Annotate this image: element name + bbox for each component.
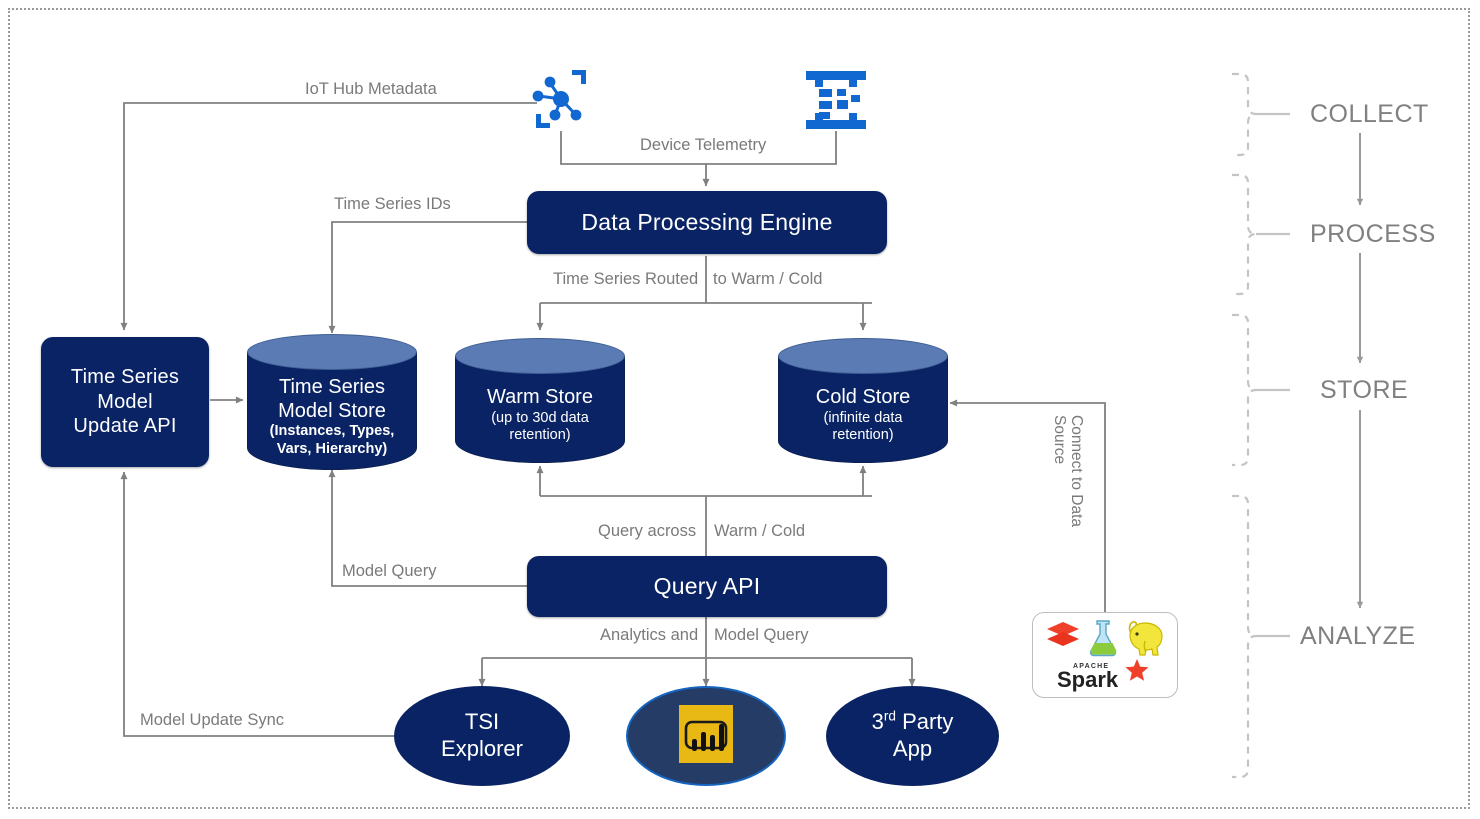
query-api-node[interactable]: Query API bbox=[527, 556, 887, 617]
label-connect-to-data-source-line2: Source bbox=[1050, 415, 1068, 464]
power-bi-icon bbox=[679, 705, 733, 768]
flask-icon bbox=[1091, 621, 1117, 656]
databricks-icon bbox=[1047, 622, 1079, 646]
warm-store-sub1: (up to 30d data bbox=[491, 410, 589, 427]
label-model-query: Model Query bbox=[342, 562, 436, 581]
cold-store-sub2: retention) bbox=[832, 427, 893, 444]
label-model-query-2: Model Query bbox=[714, 626, 808, 645]
warm-store-line1: Warm Store bbox=[487, 386, 593, 410]
model-update-api-line1: Time Series bbox=[71, 365, 179, 389]
third-party-app-line1: 3rd Party bbox=[872, 709, 954, 736]
tsi-explorer-node[interactable]: TSI Explorer bbox=[394, 686, 570, 786]
third-party-app-line2: App bbox=[872, 736, 954, 763]
warm-store-node[interactable]: Warm Store (up to 30d data retention) bbox=[455, 338, 625, 463]
apache-spark-logo: APACHE Spark bbox=[1057, 659, 1149, 692]
label-device-telemetry: Device Telemetry bbox=[640, 136, 766, 155]
power-bi-node[interactable] bbox=[626, 686, 786, 786]
model-store-sub2: Vars, Hierarchy) bbox=[277, 441, 387, 458]
diagram-canvas: Data Processing Engine Time Series Model… bbox=[0, 0, 1480, 819]
label-analytics-and: Analytics and bbox=[600, 626, 698, 645]
label-time-series-ids: Time Series IDs bbox=[334, 195, 451, 214]
label-warm-cold: Warm / Cold bbox=[714, 522, 805, 541]
model-update-api-line3: Update API bbox=[73, 414, 176, 438]
svg-text:Spark: Spark bbox=[1057, 667, 1119, 692]
model-store-text: Time Series Model Store (Instances, Type… bbox=[247, 364, 417, 470]
cold-store-sub1: (infinite data bbox=[824, 410, 903, 427]
iot-hub-icon bbox=[528, 68, 594, 132]
label-model-update-sync: Model Update Sync bbox=[140, 711, 284, 730]
model-store-sub1: (Instances, Types, bbox=[270, 423, 395, 440]
warm-store-sub2: retention) bbox=[509, 427, 570, 444]
cold-store-line1: Cold Store bbox=[816, 386, 911, 410]
phase-label-store: STORE bbox=[1320, 376, 1408, 405]
model-update-api-line2: Model bbox=[97, 390, 152, 414]
hadoop-elephant-icon bbox=[1130, 622, 1162, 655]
label-connect-to-data-source-line1: Connect to Data bbox=[1067, 415, 1085, 527]
cold-store-text: Cold Store (infinite data retention) bbox=[778, 368, 948, 463]
phase-label-analyze: ANALYZE bbox=[1300, 622, 1416, 651]
device-simulator-icon bbox=[803, 68, 869, 132]
phase-label-collect: COLLECT bbox=[1310, 100, 1429, 129]
model-store-node[interactable]: Time Series Model Store (Instances, Type… bbox=[247, 334, 417, 470]
analytics-tools-box[interactable]: APACHE Spark bbox=[1032, 612, 1178, 698]
query-api-label: Query API bbox=[654, 573, 761, 600]
tsi-explorer-line2: Explorer bbox=[441, 736, 523, 763]
tsi-explorer-line1: TSI bbox=[441, 709, 523, 736]
label-query-across: Query across bbox=[598, 522, 696, 541]
label-iot-hub-metadata: IoT Hub Metadata bbox=[305, 80, 437, 99]
phase-label-process: PROCESS bbox=[1310, 220, 1436, 249]
model-store-line1: Time Series bbox=[279, 376, 385, 400]
cold-store-node[interactable]: Cold Store (infinite data retention) bbox=[778, 338, 948, 463]
model-update-api-node[interactable]: Time Series Model Update API bbox=[41, 337, 209, 467]
third-party-app-node[interactable]: 3rd Party App bbox=[826, 686, 999, 786]
label-time-series-routed: Time Series Routed bbox=[553, 270, 698, 289]
model-store-line2: Model Store bbox=[278, 400, 386, 424]
warm-store-text: Warm Store (up to 30d data retention) bbox=[455, 368, 625, 463]
label-to-warm-cold: to Warm / Cold bbox=[713, 270, 822, 289]
data-processing-engine-label: Data Processing Engine bbox=[581, 209, 832, 236]
data-processing-engine-node[interactable]: Data Processing Engine bbox=[527, 191, 887, 254]
